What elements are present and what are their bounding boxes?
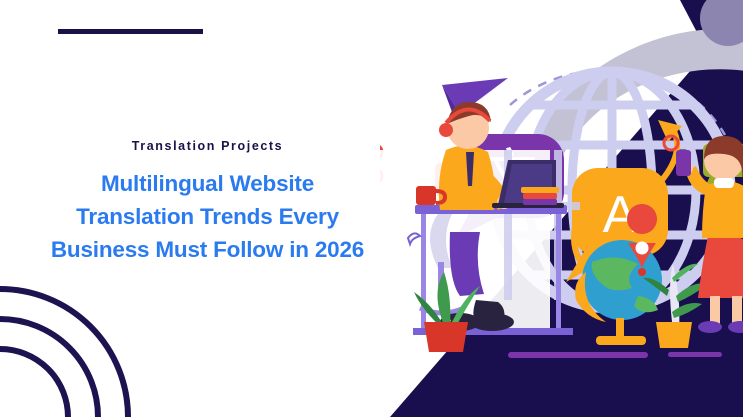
headline-line-1: Multilingual Website — [0, 167, 415, 200]
smartphone — [676, 150, 691, 176]
headphone-cup — [439, 123, 453, 137]
page-title: Multilingual Website Translation Trends … — [0, 167, 415, 266]
desk-leg-left — [421, 214, 426, 332]
promo-banner: Translation Projects Multilingual Websit… — [0, 0, 743, 417]
corner-arcs-decoration — [0, 257, 160, 417]
headline-line-2: Translation Trends Every — [0, 200, 415, 233]
translation-illustration: Hello Ciao A 文 — [380, 0, 743, 417]
headline-block: Translation Projects Multilingual Websit… — [0, 140, 415, 266]
floor-line-long — [508, 352, 648, 358]
books — [521, 187, 559, 205]
top-accent-rule — [58, 29, 203, 34]
eyebrow-label: Translation Projects — [0, 140, 415, 153]
desk-leg-right — [556, 214, 561, 332]
floor-line-short — [668, 352, 722, 357]
headline-line-3: Business Must Follow in 2026 — [0, 233, 415, 266]
